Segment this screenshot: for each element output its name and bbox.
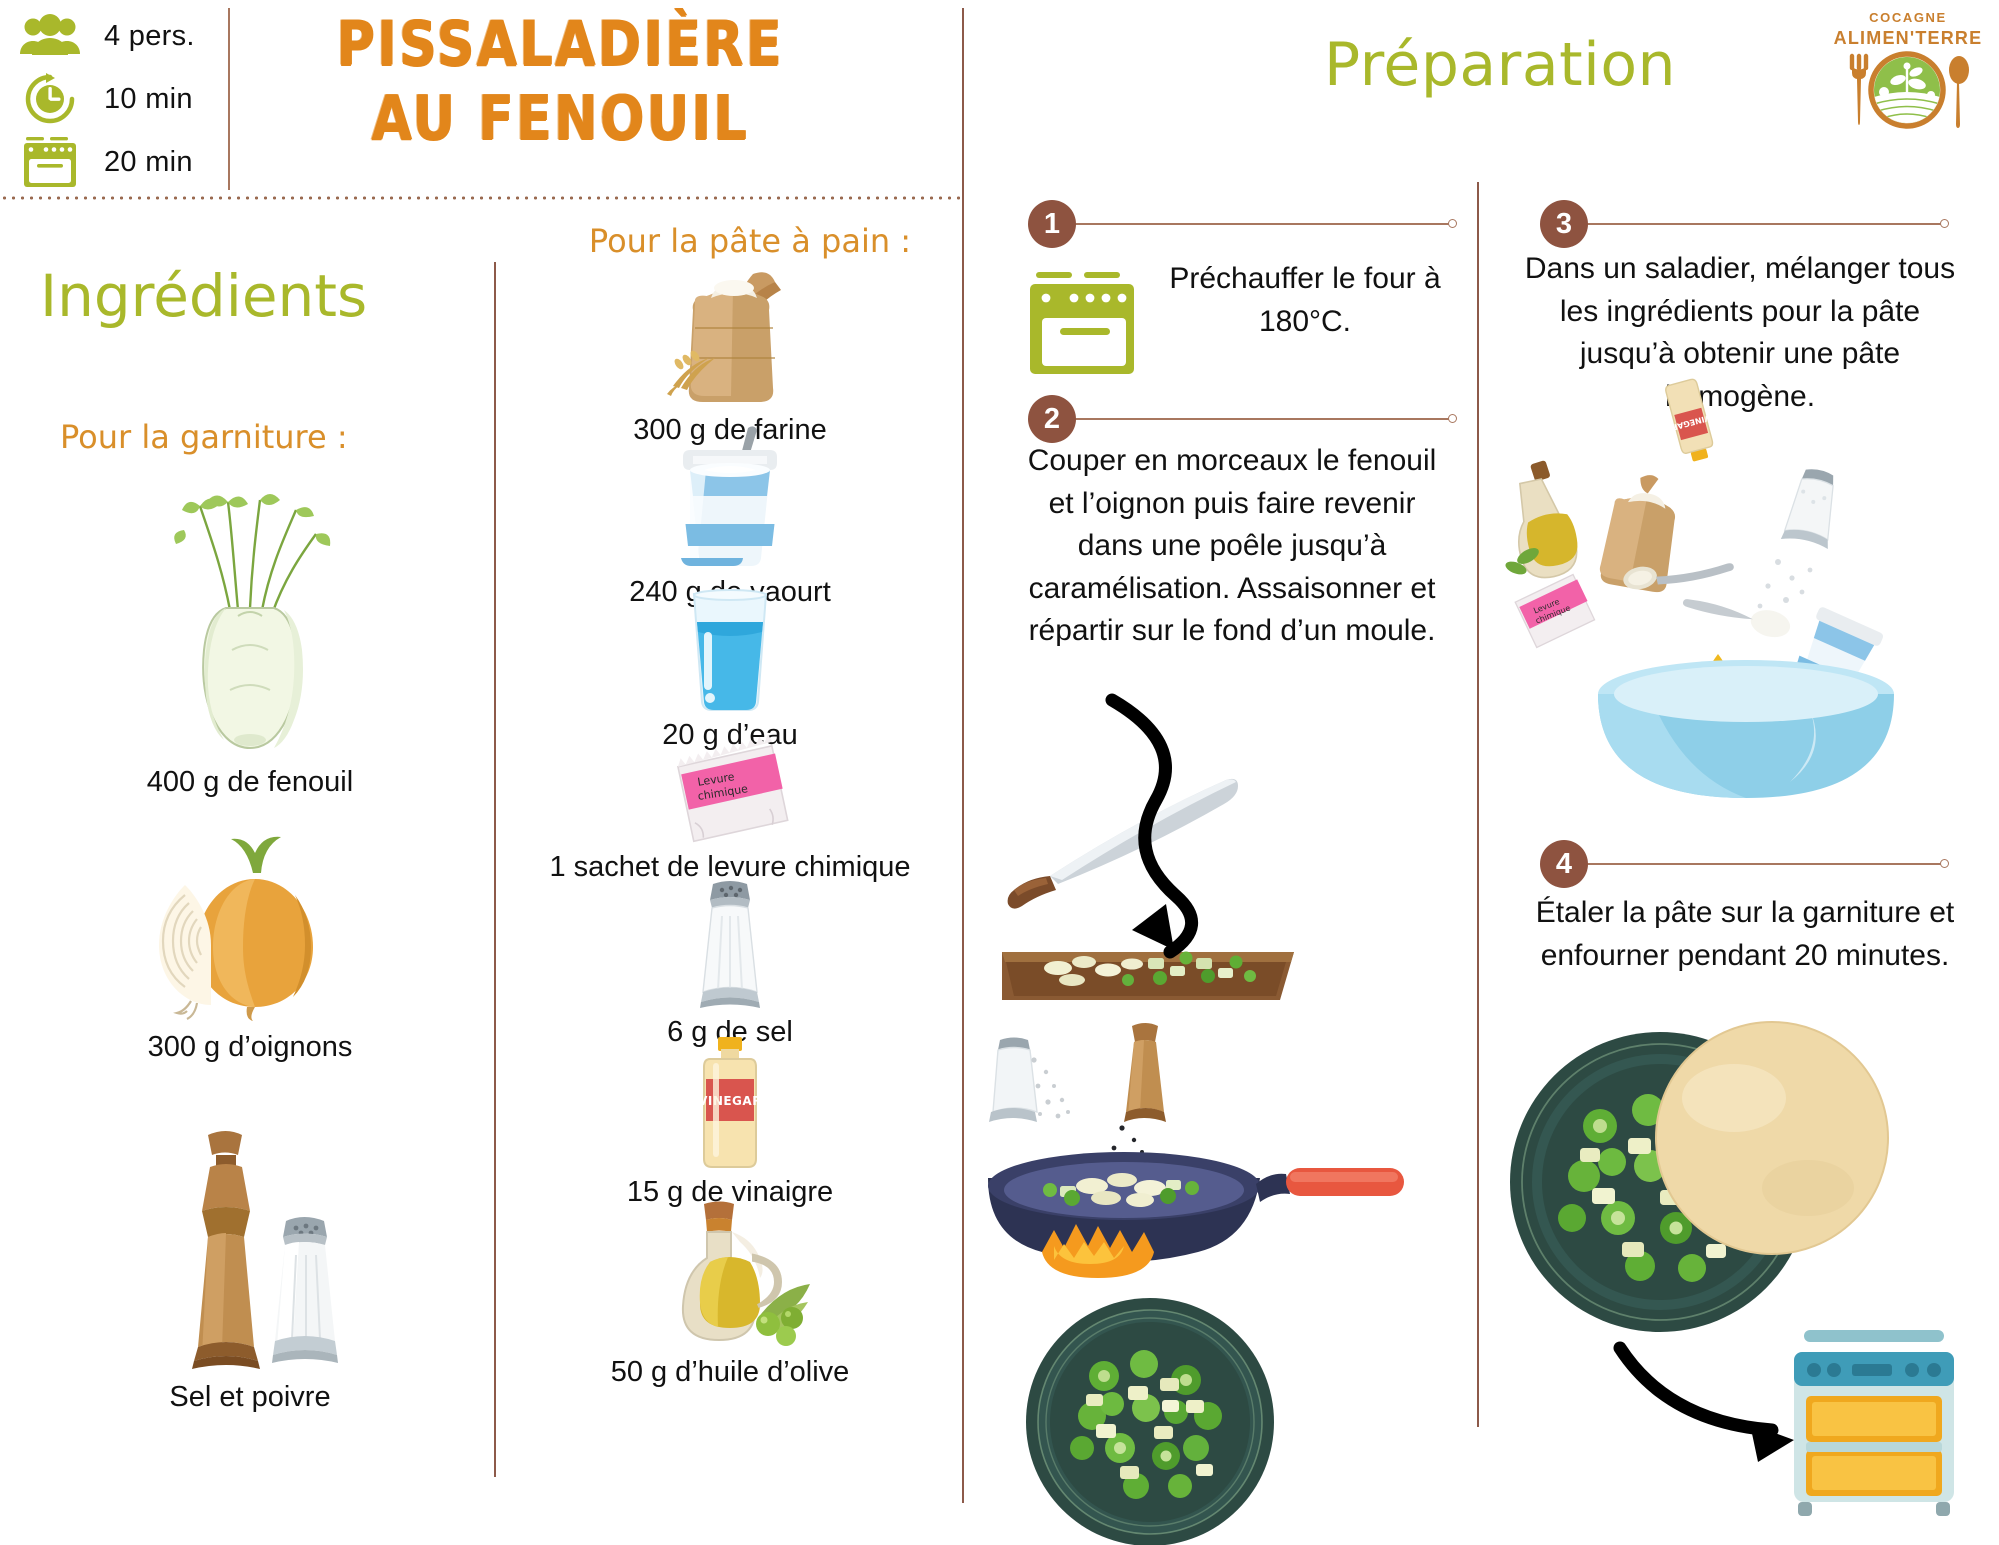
salt-shaker-icon bbox=[500, 880, 960, 1010]
dough-ball bbox=[1656, 1022, 1888, 1254]
title-line-2: AU FENOUIL bbox=[300, 83, 820, 158]
step-number-badge: 1 bbox=[1028, 200, 1076, 248]
yeast-packet-icon: Levure chimique bbox=[1514, 573, 1597, 648]
salt-shaker bbox=[272, 1217, 338, 1363]
ingredient-label: 50 g d’huile d’olive bbox=[500, 1356, 960, 1389]
garniture-heading: Pour la garniture : bbox=[60, 418, 460, 456]
step-rule bbox=[1582, 863, 1944, 865]
step-1-text: Préchauffer le four à 180°C. bbox=[1150, 258, 1460, 343]
cutting-board bbox=[1002, 952, 1294, 1001]
yeast-packet-icon: Levure chimique bbox=[500, 745, 960, 845]
recipe-card: 4 pers. 10 min bbox=[0, 0, 1999, 1545]
salt-sprinkle bbox=[1758, 559, 1813, 608]
yogurt-pot-icon bbox=[500, 420, 960, 570]
spoon-icon bbox=[1949, 56, 1969, 128]
step-number-badge: 3 bbox=[1540, 200, 1588, 248]
fennel-icon bbox=[40, 490, 460, 760]
spoon-icon bbox=[1680, 589, 1793, 641]
people-icon bbox=[18, 8, 82, 64]
header-vertical-divider bbox=[228, 8, 230, 190]
prep-time-value: 10 min bbox=[104, 83, 193, 116]
meta-row-cook-time: 20 min bbox=[18, 132, 268, 192]
servings-value: 4 pers. bbox=[104, 20, 195, 53]
cook-time-value: 20 min bbox=[104, 146, 193, 179]
ingredient-yeast: Levure chimique 1 sachet de levure chimi… bbox=[500, 745, 960, 884]
ingredient-salt: 6 g de sel bbox=[500, 880, 960, 1049]
title-line-1: PISSALADIÈRE bbox=[300, 8, 820, 83]
oven-icon bbox=[18, 134, 82, 190]
water-glass-icon bbox=[500, 588, 960, 713]
filled-bowl bbox=[1026, 1298, 1274, 1545]
ingredient-vinegar: VINEGAR 15 g de vinaigre bbox=[500, 1035, 960, 1209]
ingredients-column-divider bbox=[494, 262, 496, 1477]
header-divider bbox=[0, 196, 960, 200]
pate-heading: Pour la pâte à pain : bbox=[520, 222, 980, 260]
step-number-badge: 4 bbox=[1540, 840, 1588, 888]
recipe-meta: 4 pers. 10 min bbox=[18, 6, 268, 195]
oil-bottle-icon bbox=[1504, 460, 1582, 582]
meta-row-servings: 4 pers. bbox=[18, 6, 268, 66]
logo: COCAGNE ALIMEN'TERRE bbox=[1828, 4, 1988, 132]
step-4-illustration bbox=[1500, 1010, 1999, 1530]
step-3-header: 3 bbox=[1540, 200, 1950, 248]
ingredient-salt-pepper: Sel et poivre bbox=[40, 1125, 460, 1414]
ingredient-fennel: 400 g de fenouil bbox=[40, 490, 460, 799]
step-4-text: Étaler la pâte sur la garniture et enfou… bbox=[1530, 892, 1960, 977]
mixing-bowl bbox=[1598, 660, 1894, 798]
step-2-header: 2 bbox=[1028, 395, 1458, 443]
flour-sack-icon bbox=[500, 268, 960, 408]
salt-shaker-sprinkle bbox=[989, 1038, 1070, 1123]
step-3-illustration: VINEGAR Levure chimique bbox=[1510, 450, 1980, 810]
flow-arrow bbox=[1620, 1348, 1772, 1430]
salt-pepper-icon bbox=[40, 1125, 460, 1375]
recipe-title: PISSALADIÈRE AU FENOUIL bbox=[300, 8, 820, 158]
steps-column-divider bbox=[1477, 182, 1479, 1427]
step-4-header: 4 bbox=[1540, 840, 1950, 888]
step-1-header: 1 bbox=[1028, 200, 1458, 248]
oven-appliance-icon bbox=[1794, 1330, 1954, 1516]
olive-oil-icon bbox=[500, 1200, 960, 1350]
ingredient-label: Sel et poivre bbox=[40, 1381, 460, 1414]
frying-pan bbox=[988, 1152, 1404, 1278]
step-rule bbox=[1070, 418, 1452, 420]
ingredient-onion: 300 g d’oignons bbox=[40, 835, 460, 1064]
step-rule bbox=[1070, 223, 1452, 225]
oven-illustration bbox=[1028, 270, 1140, 378]
step-2-text: Couper en morceaux le fenouil et l’oigno… bbox=[1012, 440, 1452, 653]
knife-icon bbox=[1008, 779, 1238, 909]
fork-icon bbox=[1852, 56, 1866, 125]
ingredient-yogurt: 240 g de yaourt bbox=[500, 420, 960, 609]
ingredient-water: 20 g d’eau bbox=[500, 588, 960, 752]
step-3-text: Dans un saladier, mélanger tous les ingr… bbox=[1520, 248, 1960, 418]
onion-icon bbox=[40, 835, 460, 1025]
ingredient-label: 400 g de fenouil bbox=[40, 766, 460, 799]
pepper-mill bbox=[192, 1131, 260, 1369]
vinegar-label: VINEGAR bbox=[698, 1094, 762, 1108]
step-2-illustration bbox=[1000, 700, 1470, 1540]
ingredients-heading: Ingrédients bbox=[40, 262, 460, 330]
meta-row-prep-time: 10 min bbox=[18, 69, 268, 129]
vinegar-bottle-icon: VINEGAR bbox=[500, 1035, 960, 1170]
logo-line-2: ALIMEN'TERRE bbox=[1828, 28, 1988, 49]
ingredient-label: 300 g d’oignons bbox=[40, 1031, 460, 1064]
ingredient-olive-oil: 50 g d’huile d’olive bbox=[500, 1200, 960, 1389]
timer-icon bbox=[18, 71, 82, 127]
step-rule bbox=[1582, 223, 1944, 225]
salt-shaker-icon bbox=[1781, 465, 1844, 549]
logo-line-1: COCAGNE bbox=[1828, 10, 1988, 25]
preparation-heading: Préparation bbox=[1290, 30, 1710, 100]
step-number-badge: 2 bbox=[1028, 395, 1076, 443]
